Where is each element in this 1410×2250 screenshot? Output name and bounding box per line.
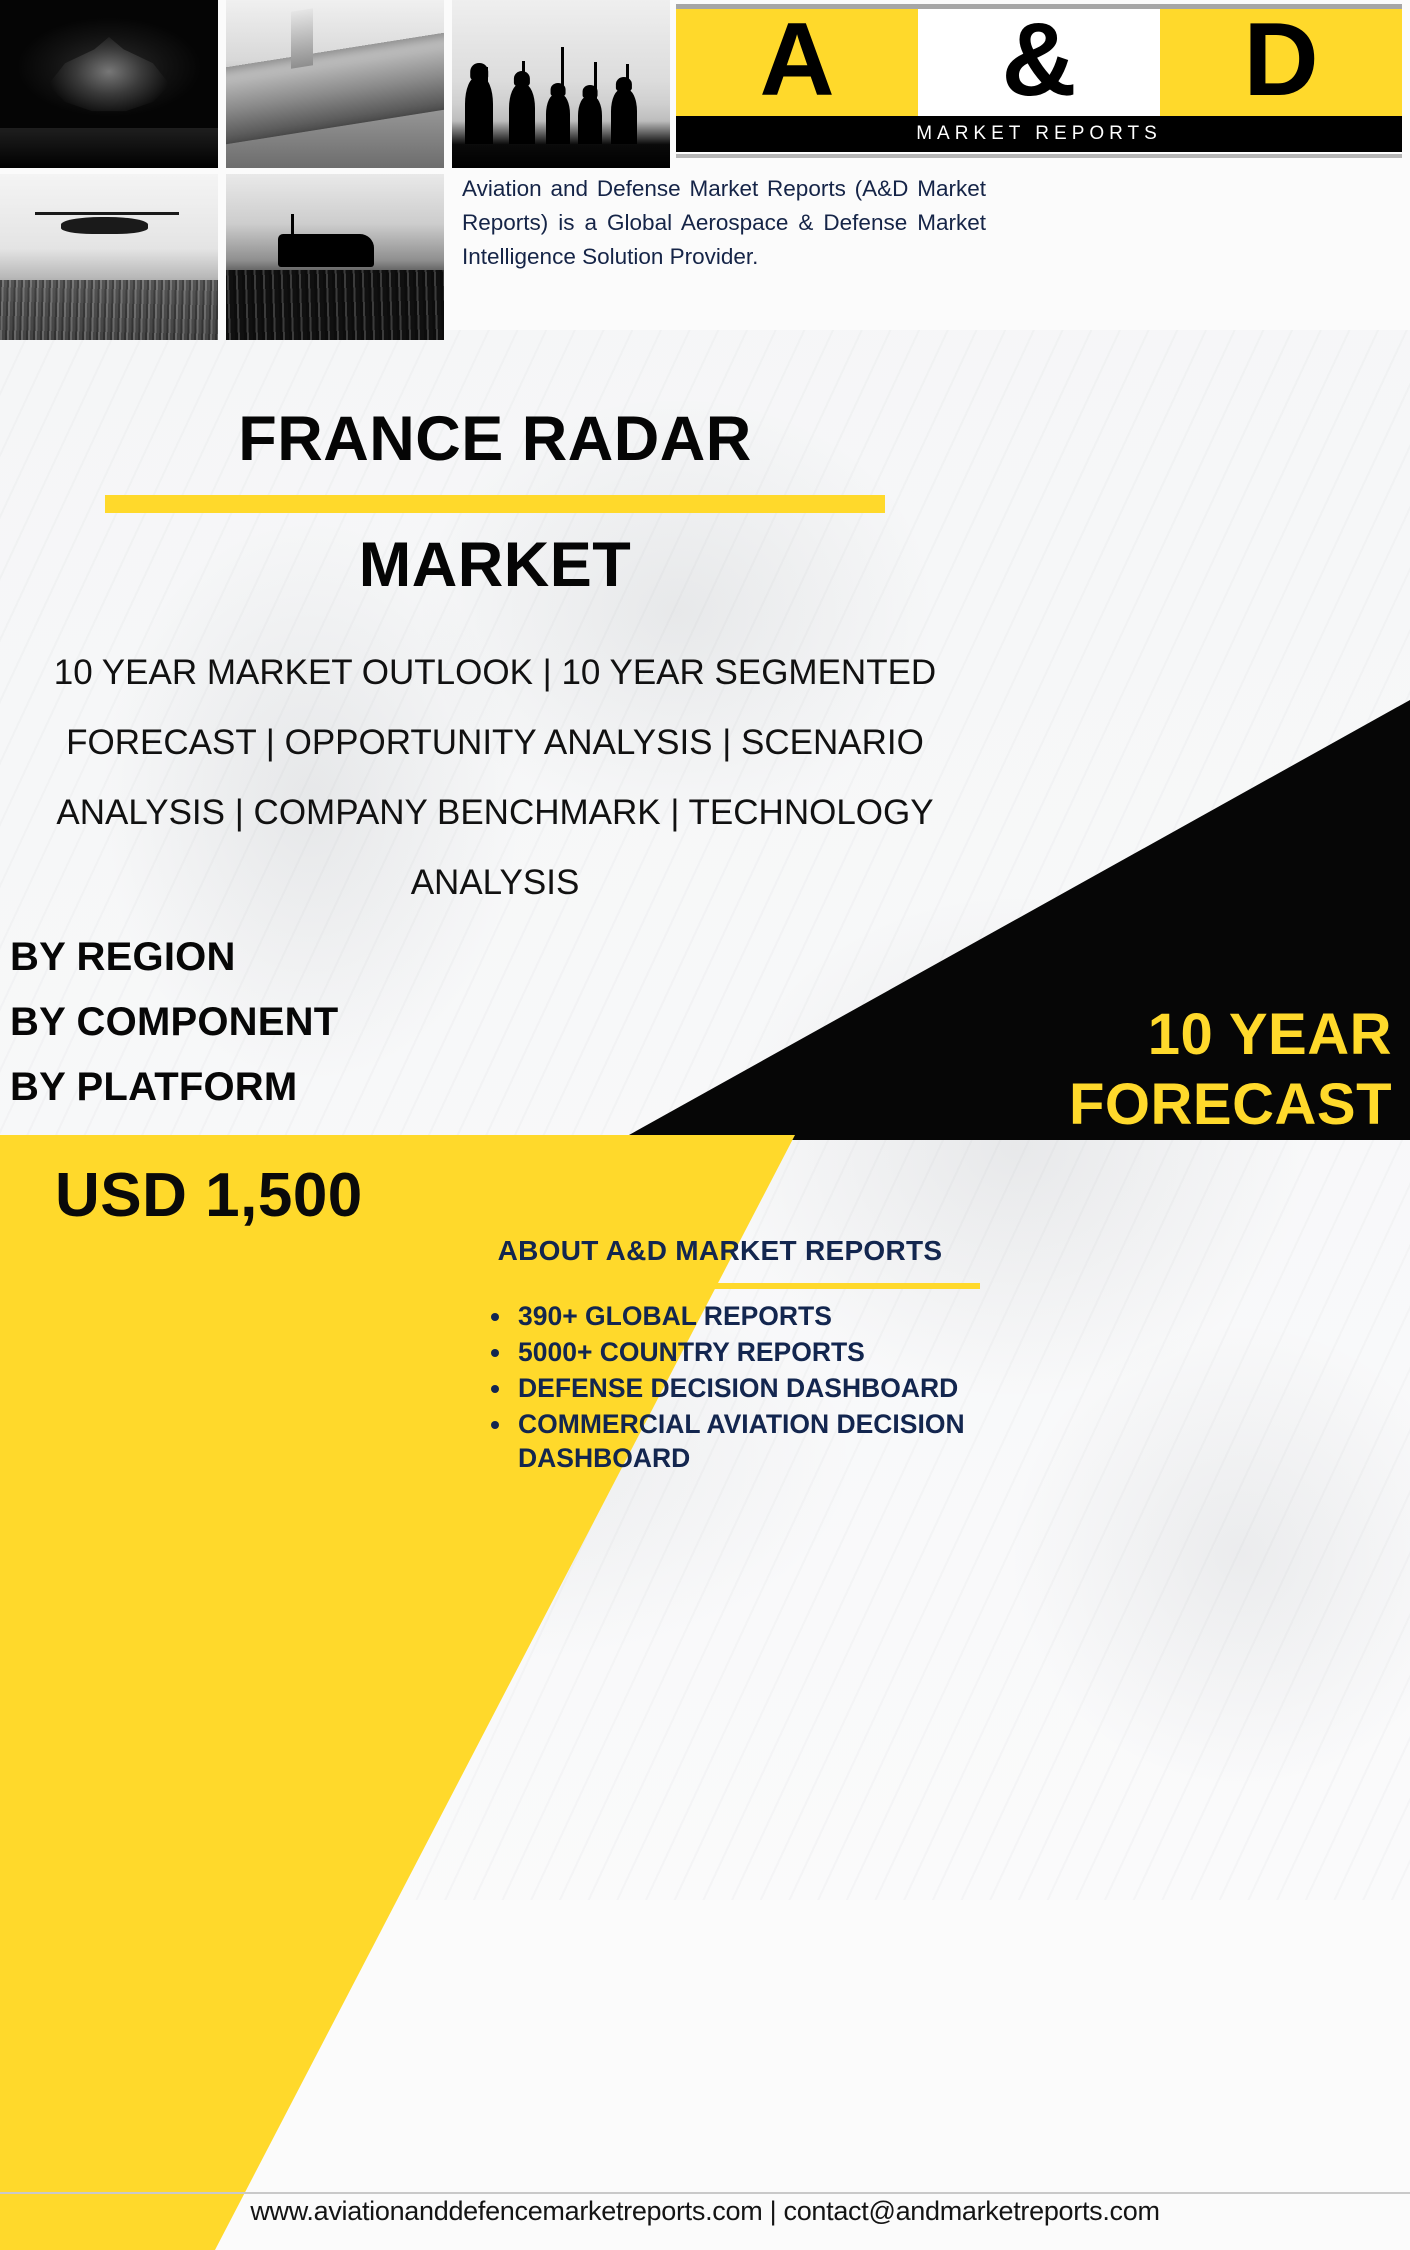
forecast-badge: 10 YEAR FORECAST bbox=[732, 1000, 1392, 1139]
aircraft-carrier-photo bbox=[226, 0, 444, 168]
helicopter-field-photo bbox=[0, 174, 218, 340]
page-title-line2: MARKET bbox=[0, 531, 990, 599]
company-intro-paragraph: Aviation and Defense Market Reports (A&D… bbox=[462, 172, 986, 275]
logo-letter-a: A bbox=[759, 8, 834, 112]
soldiers-silhouette-photo bbox=[452, 0, 670, 168]
footer-divider bbox=[0, 2192, 1410, 2194]
logo-cell-ampersand: & bbox=[918, 4, 1160, 116]
logo-top-edge bbox=[676, 4, 1402, 9]
about-heading: ABOUT A&D MARKET REPORTS bbox=[460, 1235, 980, 1267]
photo-collage bbox=[0, 0, 670, 340]
logo-tagline-bar: MARKET REPORTS bbox=[676, 116, 1402, 152]
logo-letter-d: D bbox=[1243, 8, 1318, 112]
report-features-subtitle: 10 YEAR MARKET OUTLOOK | 10 YEAR SEGMENT… bbox=[24, 638, 966, 918]
footer-contact: www.aviationanddefencemarketreports.com … bbox=[0, 2196, 1410, 2227]
list-item: COMMERCIAL AVIATION DECISION DASHBOARD bbox=[514, 1408, 986, 1476]
page-title-line1: FRANCE RADAR bbox=[0, 405, 990, 473]
segmentation-item-component: BY COMPONENT bbox=[10, 990, 338, 1055]
price-label: USD 1,500 bbox=[55, 1160, 363, 1231]
logo-letter-ampersand: & bbox=[1001, 8, 1076, 112]
logo-cell-a: A bbox=[676, 4, 918, 116]
forecast-badge-line2: FORECAST bbox=[732, 1070, 1392, 1140]
list-item: 390+ GLOBAL REPORTS bbox=[514, 1300, 986, 1334]
about-yellow-rule bbox=[460, 1283, 980, 1289]
list-item: 5000+ COUNTRY REPORTS bbox=[514, 1336, 986, 1370]
about-bullet-list: 390+ GLOBAL REPORTS 5000+ COUNTRY REPORT… bbox=[486, 1300, 986, 1478]
logo-cell-d: D bbox=[1160, 4, 1402, 116]
list-item: DEFENSE DECISION DASHBOARD bbox=[514, 1372, 986, 1406]
armored-vehicle-photo bbox=[226, 174, 444, 340]
ad-market-reports-logo: A & D MARKET REPORTS bbox=[676, 4, 1402, 154]
forecast-badge-line1: 10 YEAR bbox=[732, 1000, 1392, 1070]
segmentation-item-region: BY REGION bbox=[10, 925, 338, 990]
fighter-jet-photo bbox=[0, 0, 218, 168]
logo-letters-row: A & D bbox=[676, 4, 1402, 116]
segmentation-list: BY REGION BY COMPONENT BY PLATFORM bbox=[10, 925, 338, 1119]
logo-tagline: MARKET REPORTS bbox=[916, 123, 1162, 145]
poster-root: A & D MARKET REPORTS Aviation and Defens… bbox=[0, 0, 1410, 2250]
page-title: FRANCE RADAR MARKET bbox=[0, 405, 990, 599]
logo-bottom-edge bbox=[676, 154, 1402, 158]
title-yellow-rule bbox=[105, 495, 885, 513]
segmentation-item-platform: BY PLATFORM bbox=[10, 1055, 338, 1120]
